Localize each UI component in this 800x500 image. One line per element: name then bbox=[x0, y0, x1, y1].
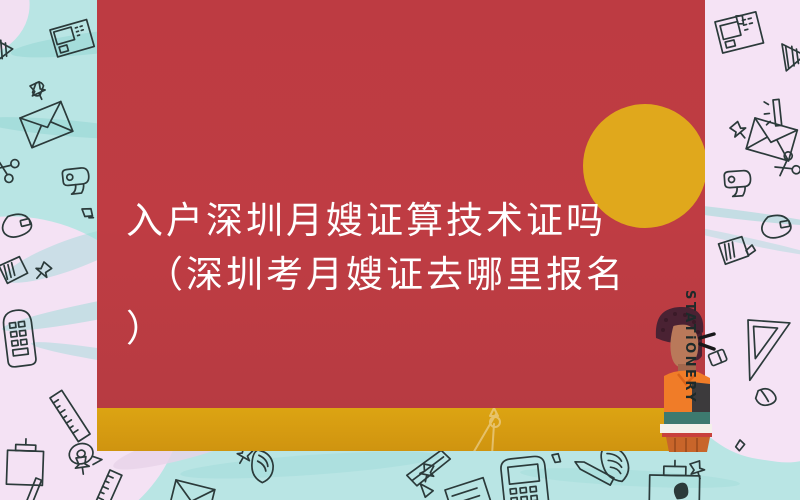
picture-frame-doodle bbox=[715, 12, 763, 53]
calculator-doodle bbox=[2, 309, 37, 368]
title-line-2: （深圳考月嫂证去哪里报名 bbox=[126, 248, 705, 302]
paper-plane-doodle bbox=[778, 44, 800, 73]
notebook-doodle bbox=[0, 256, 29, 285]
ruler-doodle bbox=[50, 390, 90, 441]
pen-doodle bbox=[22, 478, 41, 500]
sharpener-doodle bbox=[760, 213, 792, 240]
calculator-doodle bbox=[500, 455, 550, 500]
stapler-doodle bbox=[404, 448, 461, 500]
paperclip-doodle bbox=[551, 452, 562, 464]
glue-doodle bbox=[754, 386, 778, 408]
red-title-panel: 入户深圳月嫂证算技术证吗 （深圳考月嫂证去哪里报名 ） bbox=[97, 0, 705, 408]
envelope-doodle bbox=[20, 102, 73, 148]
notebook-doodle bbox=[718, 236, 749, 265]
paper-plane-doodle bbox=[0, 38, 14, 65]
fan-doodle bbox=[248, 449, 276, 484]
scissors-doodle bbox=[0, 154, 20, 184]
clipboard-doodle bbox=[445, 478, 497, 500]
poster-canvas: 入户深圳月嫂证算技术证吗 （深圳考月嫂证去哪里报名 ） bbox=[0, 0, 800, 500]
pushpin-doodle bbox=[28, 81, 48, 102]
scissors-doodle bbox=[462, 408, 522, 451]
sharpener-doodle bbox=[0, 211, 33, 240]
title-line-3: ） bbox=[126, 302, 705, 356]
pushpin-doodle bbox=[32, 261, 54, 283]
pushpin-doodle bbox=[74, 456, 90, 475]
paperclip-doodle bbox=[735, 440, 746, 452]
ruler-doodle bbox=[91, 470, 122, 500]
page-title: 入户深圳月嫂证算技术证吗 （深圳考月嫂证去哪里报名 ） bbox=[126, 194, 705, 356]
tape-dispenser-doodle bbox=[724, 170, 752, 197]
pen-doodle bbox=[573, 458, 614, 485]
triangle-ruler-doodle bbox=[744, 320, 790, 383]
yellow-accent-band bbox=[97, 408, 705, 451]
pushpin-doodle bbox=[728, 120, 750, 142]
paperclip-doodle bbox=[81, 205, 95, 221]
envelope-doodle bbox=[169, 480, 215, 500]
stationery-label: STATiONERY bbox=[682, 290, 697, 404]
tape-dispenser-doodle bbox=[62, 167, 90, 195]
pushpin-doodle bbox=[688, 460, 707, 480]
envelope-doodle bbox=[746, 118, 797, 161]
picture-frame-doodle bbox=[50, 20, 94, 57]
title-line-1: 入户深圳月嫂证算技术证吗 bbox=[126, 194, 705, 248]
